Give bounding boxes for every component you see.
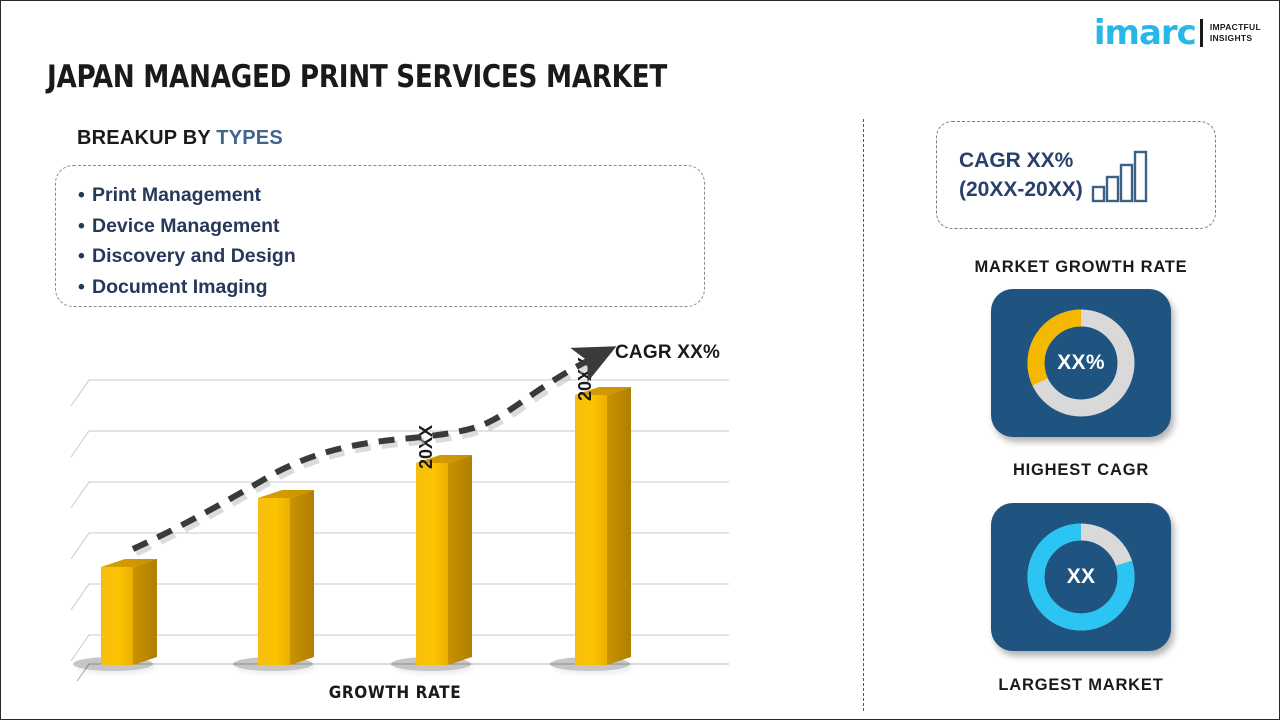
page-title: JAPAN MANAGED PRINT SERVICES MARKET bbox=[47, 59, 667, 95]
largest-market-label: LARGEST MARKET bbox=[901, 676, 1261, 695]
chart-x-axis-label: GROWTH RATE bbox=[61, 683, 729, 703]
market-growth-rate-text: CAGR XX% (20XX-20XX) bbox=[959, 146, 1083, 204]
largest-market-value: XX bbox=[1019, 515, 1143, 639]
list-item: •Discovery and Design bbox=[78, 241, 704, 272]
bar-label: 20XX bbox=[416, 425, 436, 469]
cagr-line-2: (20XX-20XX) bbox=[959, 175, 1083, 204]
largest-market-tile: XX bbox=[991, 503, 1171, 651]
imarc-logo: imarc IMPACTFUL INSIGHTS bbox=[1094, 13, 1261, 53]
chart-bar: 20XX bbox=[550, 357, 631, 671]
highest-cagr-tile: XX% bbox=[991, 289, 1171, 437]
list-item: •Document Imaging bbox=[78, 272, 704, 303]
logo-wordmark: imarc bbox=[1094, 16, 1196, 50]
growth-rate-bar-chart: 20XX 20XX CAGR XX% GROWTH RATE bbox=[61, 331, 761, 711]
breakup-list-box: •Print Management •Device Management •Di… bbox=[55, 165, 705, 307]
list-item: •Print Management bbox=[78, 180, 704, 211]
infographic-page: imarc IMPACTFUL INSIGHTS JAPAN MANAGED P… bbox=[0, 0, 1280, 720]
logo-tagline-line1: IMPACTFUL bbox=[1210, 22, 1261, 33]
logo-tagline-line2: INSIGHTS bbox=[1210, 33, 1261, 44]
list-item-label: Document Imaging bbox=[92, 276, 268, 298]
cagr-trendline-label: CAGR XX% bbox=[615, 342, 720, 364]
breakup-heading-plain: BREAKUP BY bbox=[77, 127, 216, 149]
logo-tagline: IMPACTFUL INSIGHTS bbox=[1210, 22, 1261, 44]
bar-chart-svg: 20XX 20XX bbox=[61, 331, 761, 681]
breakup-heading-accent: TYPES bbox=[216, 127, 283, 149]
list-item-label: Discovery and Design bbox=[92, 245, 296, 267]
panel-divider bbox=[863, 119, 864, 711]
market-growth-rate-label: MARKET GROWTH RATE bbox=[901, 258, 1261, 277]
breakup-heading: BREAKUP BY TYPES bbox=[77, 127, 283, 150]
bullet-icon: • bbox=[78, 180, 92, 211]
list-item-label: Print Management bbox=[92, 184, 261, 206]
list-item: •Device Management bbox=[78, 211, 704, 242]
bullet-icon: • bbox=[78, 272, 92, 303]
ascending-bars-icon bbox=[1091, 149, 1149, 208]
chart-bar bbox=[73, 559, 157, 671]
trendline bbox=[133, 357, 598, 553]
highest-cagr-label: HIGHEST CAGR bbox=[901, 461, 1261, 480]
cagr-line-1: CAGR XX% bbox=[959, 146, 1083, 175]
list-item-label: Device Management bbox=[92, 215, 280, 237]
bullet-icon: • bbox=[78, 241, 92, 272]
bullet-icon: • bbox=[78, 211, 92, 242]
largest-market-donut: XX bbox=[1019, 515, 1143, 639]
market-growth-rate-box: CAGR XX% (20XX-20XX) bbox=[936, 121, 1216, 229]
highest-cagr-donut: XX% bbox=[1019, 301, 1143, 425]
logo-divider bbox=[1200, 19, 1203, 47]
chart-bar: 20XX bbox=[391, 425, 472, 671]
highest-cagr-value: XX% bbox=[1019, 301, 1143, 425]
chart-bar bbox=[233, 490, 314, 671]
